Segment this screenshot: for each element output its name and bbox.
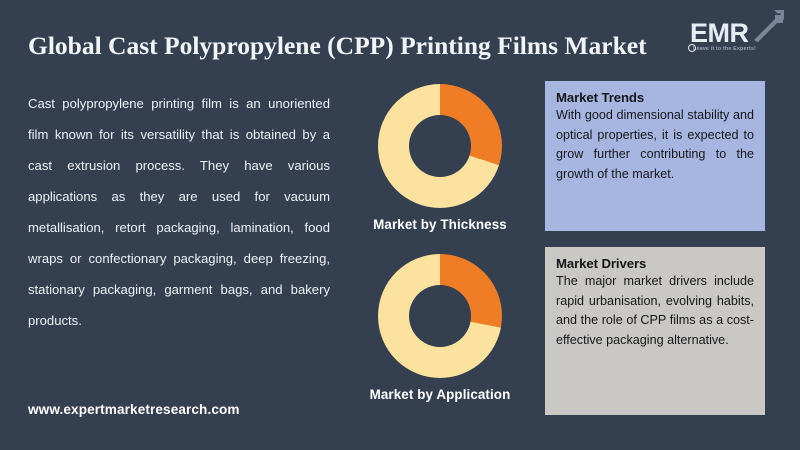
- infographic-canvas: EMR Leave it to the Experts! Global Cast…: [0, 0, 800, 450]
- logo-tagline: Leave it to the Experts!: [693, 46, 756, 52]
- title-bullet-icon: [688, 44, 696, 52]
- chart-title: Market by Thickness: [352, 217, 528, 232]
- donut-hole: [409, 285, 471, 347]
- panel-title: Market Drivers: [556, 256, 754, 271]
- intro-paragraph: Cast polypropylene printing film is an u…: [28, 88, 330, 336]
- panel-body-text: The major market drivers include rapid u…: [556, 272, 754, 350]
- page-title: Global Cast Polypropylene (CPP) Printing…: [28, 31, 700, 60]
- chart-title: Market by Application: [352, 387, 528, 402]
- growth-arrow-icon: [752, 8, 786, 42]
- donut-chart: [378, 84, 502, 208]
- panel-market-trends: Market Trends With good dimensional stab…: [545, 81, 765, 231]
- chart-market-by-application: Market by Application: [352, 254, 528, 402]
- donut-chart: [378, 254, 502, 378]
- panel-title: Market Trends: [556, 90, 754, 105]
- panel-market-drivers: Market Drivers The major market drivers …: [545, 247, 765, 415]
- panel-body-text: With good dimensional stability and opti…: [556, 106, 754, 184]
- website-url: www.expertmarketresearch.com: [28, 402, 240, 417]
- chart-market-by-thickness: Market by Thickness: [352, 84, 528, 232]
- donut-hole: [409, 115, 471, 177]
